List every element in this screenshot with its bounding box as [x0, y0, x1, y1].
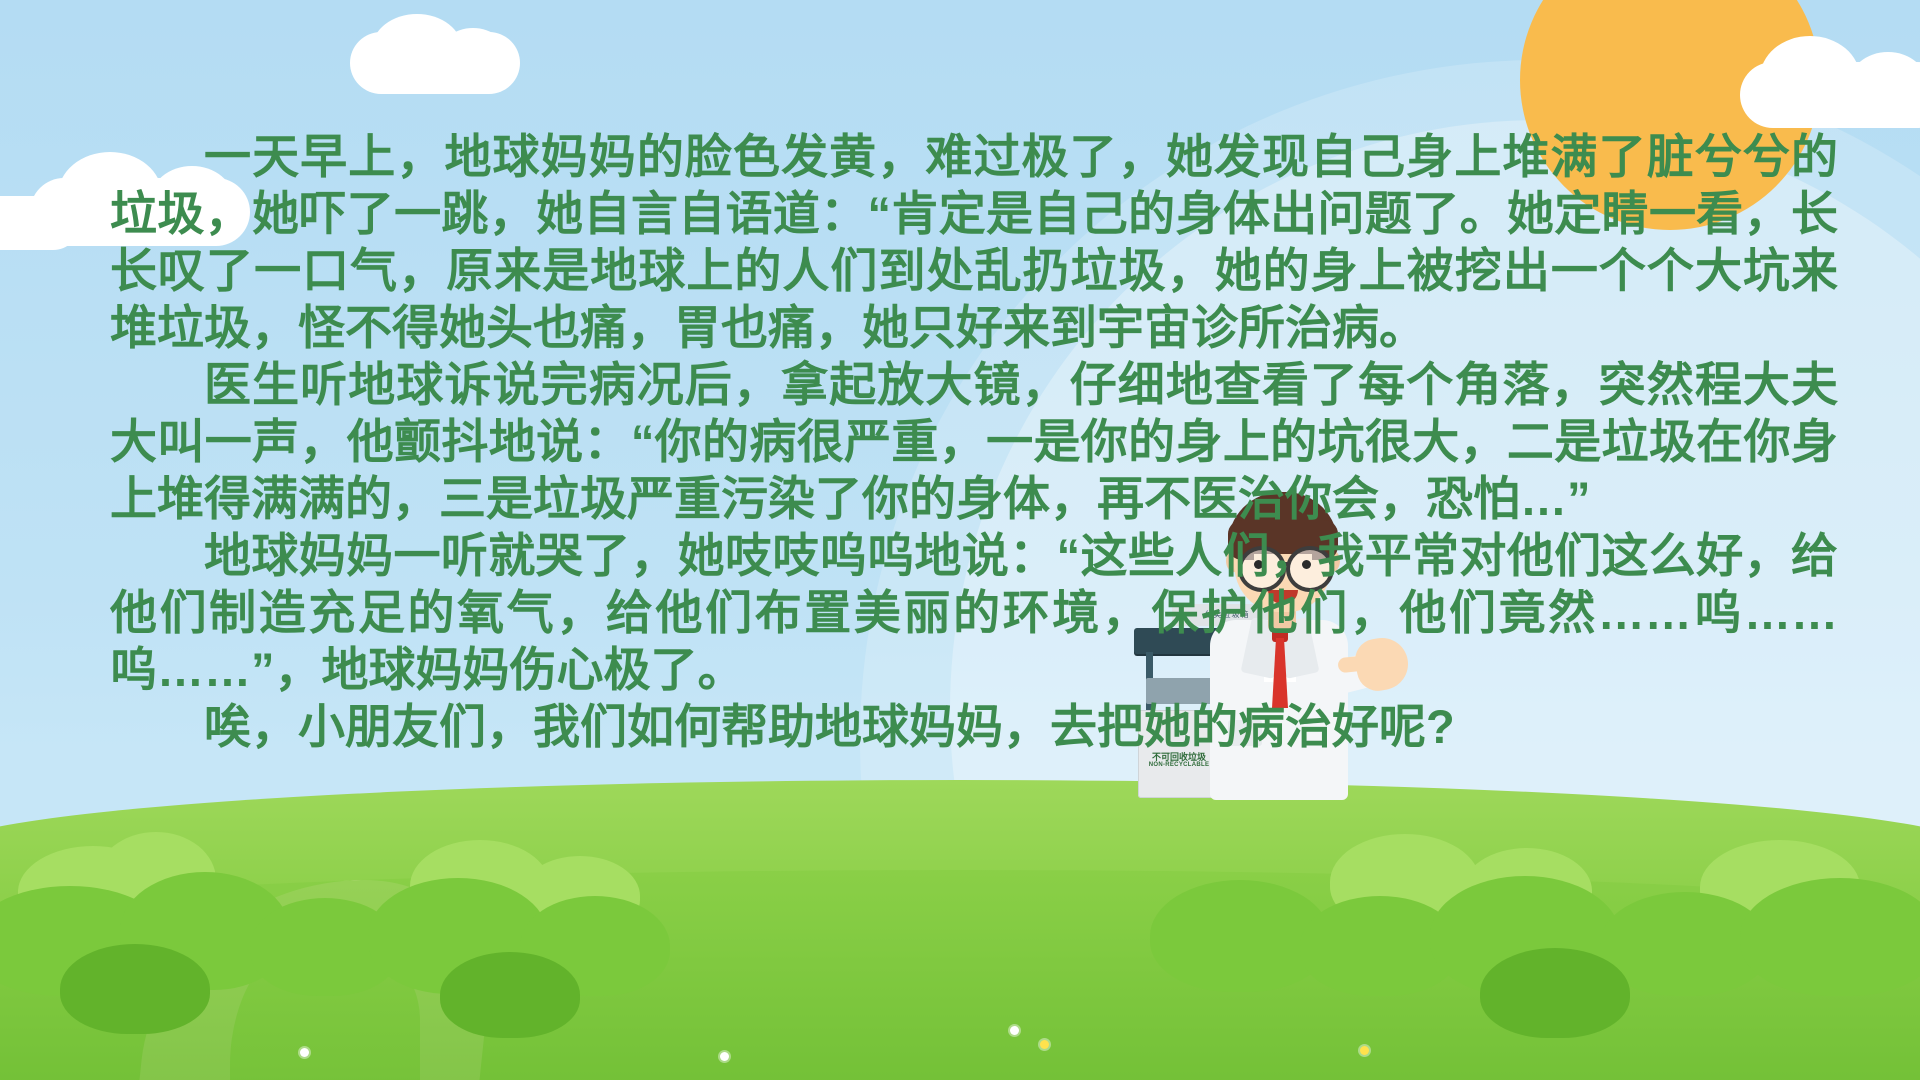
- bush-icon: [1740, 878, 1920, 996]
- flower-icon: [1010, 1026, 1019, 1035]
- story-paragraph-4: 唉，小朋友们，我们如何帮助地球妈妈，去把她的病治好呢?: [110, 698, 1838, 755]
- bush-icon: [1480, 948, 1630, 1038]
- cloud-icon: [1848, 52, 1920, 120]
- flower-icon: [1360, 1046, 1369, 1055]
- cloud-icon: [438, 28, 508, 86]
- flower-icon: [720, 1052, 729, 1061]
- flower-icon: [1040, 1040, 1049, 1049]
- story-text-block: 一天早上，地球妈妈的脸色发黄，难过极了，她发现自己身上堆满了脏兮兮的垃圾，她吓了…: [0, 128, 1920, 755]
- story-paragraph-3: 地球妈妈一听就哭了，她吱吱呜呜地说：“这些人们，我平常对他们这么好，给他们制造充…: [110, 527, 1838, 698]
- flower-icon: [300, 1048, 309, 1057]
- bush-icon: [440, 952, 580, 1038]
- slide-canvas: 分类垃圾箱 不可回收垃圾 NON-RECYCLABLE 可回收垃圾 RECYCL…: [0, 0, 1920, 1080]
- bush-icon: [60, 944, 210, 1034]
- story-paragraph-2: 医生听地球诉说完病况后，拿起放大镜，仔细地查看了每个角落，突然程大夫大叫一声，他…: [110, 356, 1838, 527]
- story-paragraph-1: 一天早上，地球妈妈的脸色发黄，难过极了，她发现自己身上堆满了脏兮兮的垃圾，她吓了…: [110, 128, 1838, 356]
- cloud-icon: [1760, 36, 1860, 120]
